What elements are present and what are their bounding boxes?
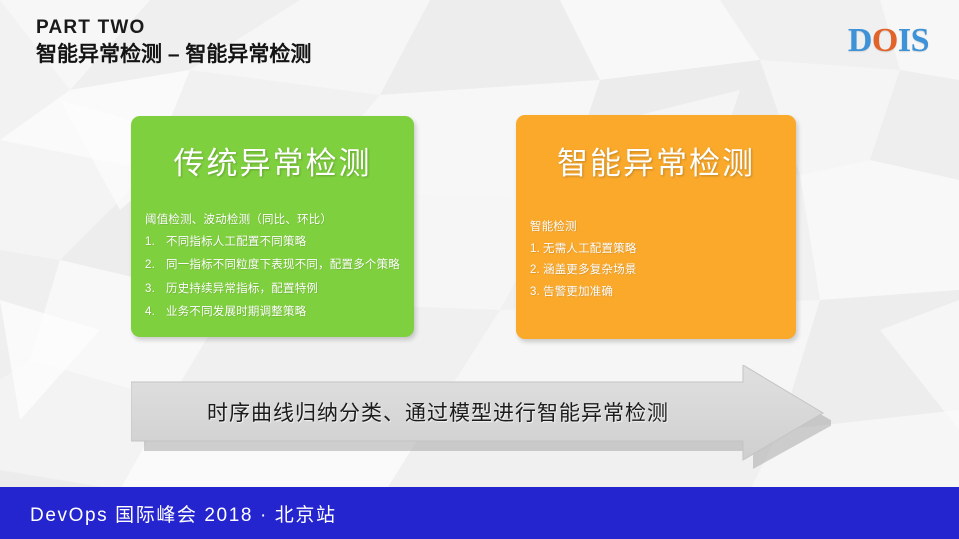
page-title: 智能异常检测 – 智能异常检测 bbox=[36, 41, 311, 68]
list-item-number: 3. bbox=[145, 282, 159, 298]
logo-letter-d: D bbox=[848, 22, 872, 59]
list-item: 1. 无需人工配置策略 bbox=[530, 242, 796, 258]
card-intelligent-body: 智能检测 1. 无需人工配置策略 2. 涵盖更多复杂场景 3. 告警更加准确 bbox=[530, 220, 796, 300]
list-item: 1. 不同指标人工配置不同策略 bbox=[145, 235, 414, 251]
list-item-label: 涵盖更多复杂场景 bbox=[543, 263, 796, 279]
list-item-number: 2. bbox=[145, 258, 159, 274]
card-traditional-title: 传统异常检测 bbox=[131, 138, 414, 183]
slide-header: PART TWO 智能异常检测 – 智能异常检测 bbox=[36, 16, 311, 68]
list-item-label: 无需人工配置策略 bbox=[543, 242, 796, 258]
logo-letters-is: IS bbox=[898, 22, 929, 59]
card-traditional-lead: 阈值检测、波动检测（同比、环比） bbox=[145, 213, 414, 229]
list-item-label: 历史持续异常指标，配置特例 bbox=[166, 282, 414, 298]
list-item-number: 2. bbox=[530, 263, 540, 279]
dois-logo: DOIS bbox=[848, 22, 929, 60]
list-item-label: 不同指标人工配置不同策略 bbox=[166, 235, 414, 251]
footer-label: DevOps 国际峰会 2018 · 北京站 bbox=[30, 500, 337, 527]
card-traditional-detection: 传统异常检测 阈值检测、波动检测（同比、环比） 1. 不同指标人工配置不同策略 … bbox=[131, 116, 414, 337]
card-traditional-body: 阈值检测、波动检测（同比、环比） 1. 不同指标人工配置不同策略 2. 同一指标… bbox=[145, 213, 414, 321]
logo-letter-o: O bbox=[872, 22, 898, 59]
card-intelligent-list: 1. 无需人工配置策略 2. 涵盖更多复杂场景 3. 告警更加准确 bbox=[530, 242, 796, 301]
card-intelligent-lead: 智能检测 bbox=[530, 220, 796, 236]
arrow-banner: 时序曲线归纳分类、通过模型进行智能异常检测 bbox=[131, 365, 831, 470]
list-item-label: 业务不同发展时期调整策略 bbox=[166, 305, 414, 321]
list-item: 2. 同一指标不同粒度下表现不同，配置多个策略 bbox=[145, 258, 414, 274]
list-item: 3. 历史持续异常指标，配置特例 bbox=[145, 282, 414, 298]
list-item: 4. 业务不同发展时期调整策略 bbox=[145, 305, 414, 321]
card-traditional-list: 1. 不同指标人工配置不同策略 2. 同一指标不同粒度下表现不同，配置多个策略 … bbox=[145, 235, 414, 321]
list-item-number: 1. bbox=[145, 235, 159, 251]
list-item: 2. 涵盖更多复杂场景 bbox=[530, 263, 796, 279]
list-item-label: 告警更加准确 bbox=[543, 285, 796, 301]
list-item-number: 3. bbox=[530, 285, 540, 301]
list-item: 3. 告警更加准确 bbox=[530, 285, 796, 301]
slide-canvas: PART TWO 智能异常检测 – 智能异常检测 DOIS 传统异常检测 阈值检… bbox=[0, 0, 959, 539]
list-item-number: 4. bbox=[145, 305, 159, 321]
list-item-number: 1. bbox=[530, 242, 540, 258]
footer-bar: DevOps 国际峰会 2018 · 北京站 bbox=[0, 487, 959, 539]
card-intelligent-title: 智能异常检测 bbox=[516, 138, 796, 183]
list-item-label: 同一指标不同粒度下表现不同，配置多个策略 bbox=[166, 258, 414, 274]
part-label: PART TWO bbox=[36, 16, 311, 40]
arrow-banner-label: 时序曲线归纳分类、通过模型进行智能异常检测 bbox=[131, 382, 745, 441]
card-intelligent-detection: 智能异常检测 智能检测 1. 无需人工配置策略 2. 涵盖更多复杂场景 3. 告… bbox=[516, 115, 796, 339]
